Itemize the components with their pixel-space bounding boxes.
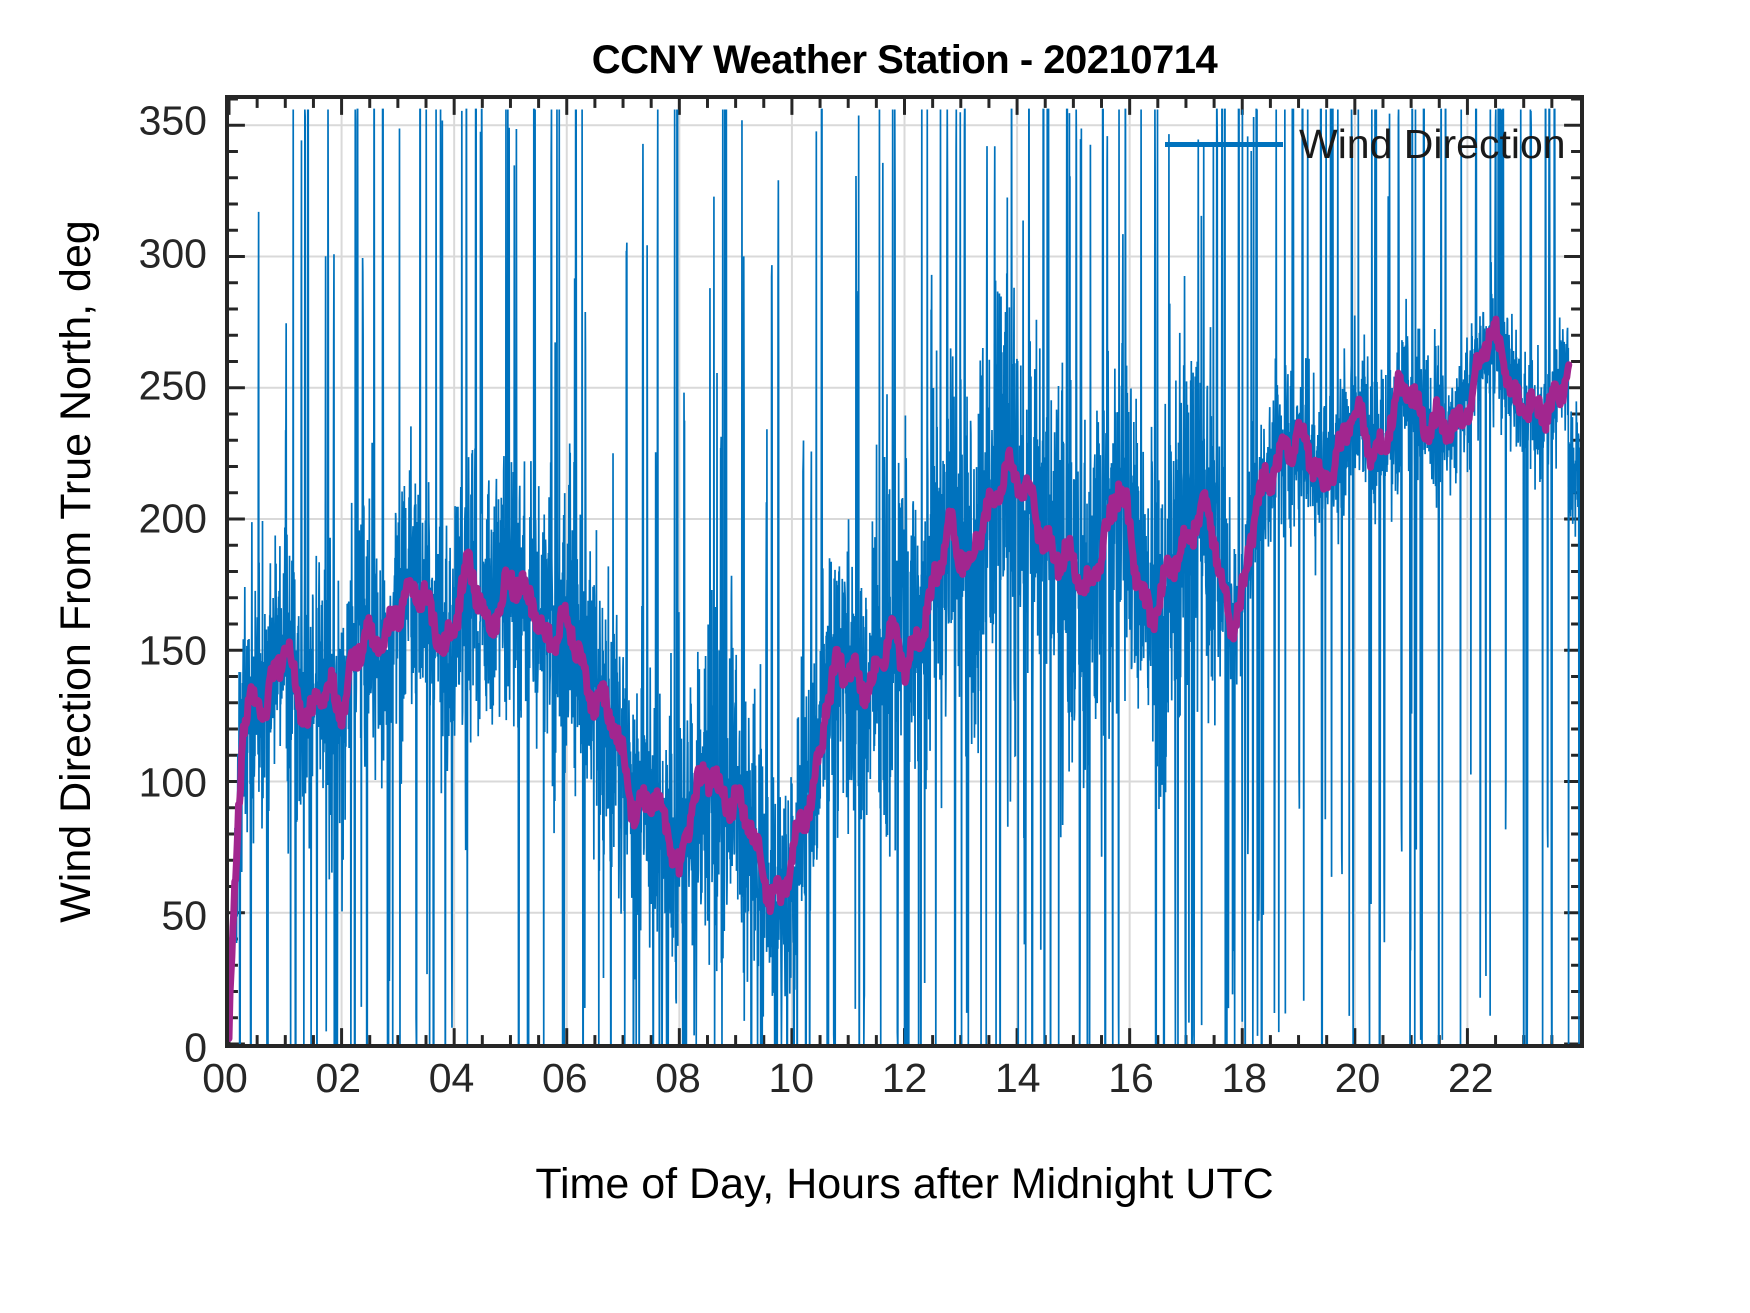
x-tick-label: 18 <box>1221 1058 1267 1099</box>
x-tick-label: 06 <box>542 1058 588 1099</box>
x-tick-label: 20 <box>1335 1058 1381 1099</box>
x-tick-label: 22 <box>1448 1058 1494 1099</box>
y-tick-label: 350 <box>139 101 207 142</box>
x-tick-label: 16 <box>1108 1058 1154 1099</box>
y-tick-label: 200 <box>139 498 207 539</box>
x-tick-label: 08 <box>655 1058 701 1099</box>
x-tick-label: 12 <box>882 1058 928 1099</box>
y-axis-label: Wind Direction From True North, deg <box>52 95 112 1048</box>
y-tick-label: 100 <box>139 763 207 804</box>
plot-canvas <box>229 99 1580 1044</box>
legend[interactable]: Wind Direction <box>1165 113 1565 175</box>
x-axis-label: Time of Day, Hours after Midnight UTC <box>225 1160 1584 1209</box>
x-tick-label: 00 <box>202 1058 248 1099</box>
chart-figure: CCNY Weather Station - 20210714 Wind Dir… <box>0 0 1750 1313</box>
legend-label-wind-direction: Wind Direction <box>1299 124 1566 165</box>
y-tick-label: 50 <box>161 895 207 936</box>
x-tick-label: 14 <box>995 1058 1041 1099</box>
x-tick-label: 02 <box>315 1058 361 1099</box>
y-tick-label: 300 <box>139 233 207 274</box>
y-tick-label: 150 <box>139 630 207 671</box>
legend-color-swatch-wind-direction <box>1165 142 1283 147</box>
plot-area[interactable] <box>225 95 1584 1048</box>
y-tick-label: 250 <box>139 366 207 407</box>
page-title: CCNY Weather Station - 20210714 <box>225 38 1584 83</box>
x-tick-label: 10 <box>768 1058 814 1099</box>
x-tick-label: 04 <box>429 1058 475 1099</box>
